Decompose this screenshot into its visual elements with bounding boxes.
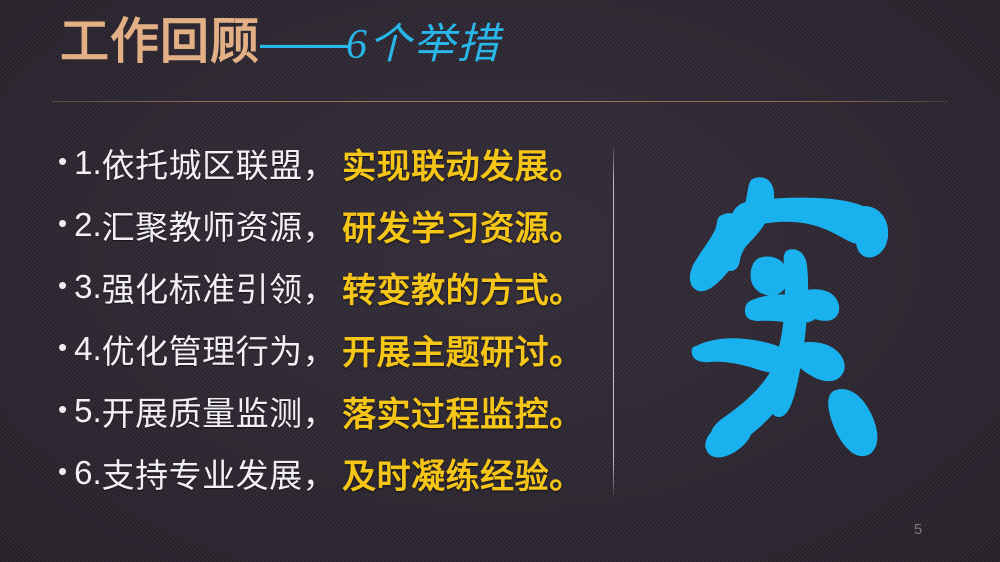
bullet-marker-icon: • [58,458,67,484]
title-underline-rule [52,101,948,102]
bullet-plain-text: 开展质量监测， [102,387,337,435]
title-subtitle-text: 6个举措 [346,22,501,68]
slide-title: 工作回顾——6个举措 [60,18,501,67]
bullet-index: 6. [74,454,102,492]
bullet-plain-text: 汇聚教师资源， [102,201,337,249]
bullet-accent-text: 转变教的方式。 [342,263,584,312]
bullet-plain-text: 依托城区联盟， [102,139,337,187]
bullet-plain-text: 支持专业发展， [102,449,337,497]
bullet-marker-icon: • [58,210,67,236]
bullet-accent-text: 及时凝练经验。 [342,449,584,498]
calligraphy-character-shi: 实 [648,150,948,470]
bullet-plain-text: 优化管理行为， [102,325,337,373]
bullet-accent-text: 实现联动发展。 [342,139,584,188]
list-item: • 5. 开展质量监测， 落实过程监控。 [58,380,598,442]
bullet-index: 1. [74,144,102,182]
vertical-divider [613,147,614,495]
page-number: 5 [905,521,931,538]
bullet-accent-text: 研发学习资源。 [342,201,584,250]
list-item: • 3. 强化标准引领， 转变教的方式。 [58,256,598,318]
bullet-accent-text: 开展主题研讨。 [342,325,584,374]
bullet-index: 5. [74,392,102,430]
bullet-accent-text: 落实过程监控。 [342,387,584,436]
bullet-plain-text: 强化标准引领， [102,263,337,311]
bullet-marker-icon: • [58,396,67,422]
bullet-marker-icon: • [58,148,67,174]
bullet-index: 2. [74,206,102,244]
bullet-marker-icon: • [58,272,67,298]
bullet-marker-icon: • [58,334,67,360]
bullet-index: 4. [74,330,102,368]
list-item: • 4. 优化管理行为， 开展主题研讨。 [58,318,598,380]
presentation-slide: 工作回顾——6个举措 • 1. 依托城区联盟， 实现联动发展。 • 2. 汇聚教… [0,0,1000,562]
bullet-list: • 1. 依托城区联盟， 实现联动发展。 • 2. 汇聚教师资源， 研发学习资源… [58,132,598,504]
title-main-text: 工作回顾 [60,15,260,69]
list-item: • 6. 支持专业发展， 及时凝练经验。 [58,442,598,504]
bullet-index: 3. [74,268,102,306]
title-dash: —— [260,16,346,68]
list-item: • 2. 汇聚教师资源， 研发学习资源。 [58,194,598,256]
list-item: • 1. 依托城区联盟， 实现联动发展。 [58,132,598,194]
